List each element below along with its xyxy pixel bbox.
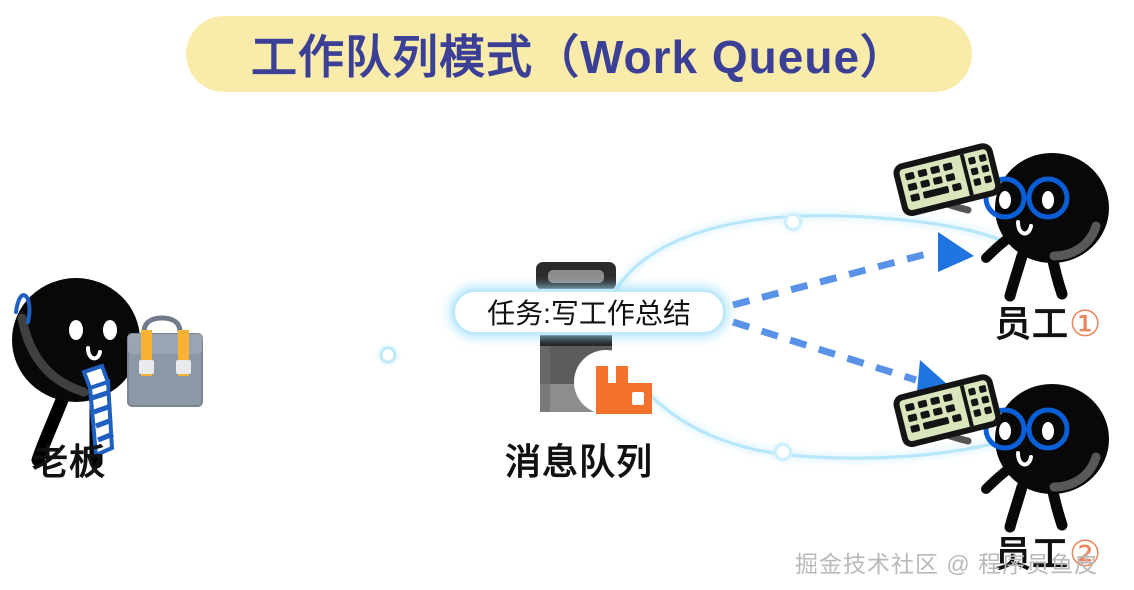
task-label-pill: 任务:写工作总结 xyxy=(452,289,726,335)
edge-queue-to-employee-2 xyxy=(640,385,1010,460)
node-caption-boss: 老板 xyxy=(32,433,106,485)
edge-task-to-employee-1 xyxy=(733,232,974,305)
led-indicator xyxy=(550,350,558,358)
led-indicator xyxy=(605,350,613,358)
task-label-text: 任务:写工作总结 xyxy=(487,292,691,332)
arrowhead-icon xyxy=(916,360,956,402)
led-indicator xyxy=(569,350,577,358)
edge-task-to-employee-2 xyxy=(733,322,956,402)
boss-eye-left xyxy=(69,320,83,340)
led-indicator xyxy=(588,350,596,358)
arrowhead-icon xyxy=(938,232,974,272)
employee-1-label: 员工 xyxy=(995,303,1069,344)
employee-character-icon xyxy=(936,153,1109,296)
boss-eye-right xyxy=(103,320,117,340)
watermark: 掘金技术社区 @ 程序员鱼皮 xyxy=(795,545,1098,579)
glasses-icon xyxy=(972,410,1067,448)
node-caption-message-queue: 消息队列 xyxy=(505,433,653,485)
diagram-canvas: 工作队列模式（Work Queue） xyxy=(0,0,1134,590)
keyboard-icon xyxy=(895,376,1000,446)
glasses-icon xyxy=(972,179,1067,217)
employee-1-badge: ① xyxy=(1069,303,1102,344)
briefcase-icon xyxy=(128,318,202,406)
edge-node-dot xyxy=(381,348,395,362)
edge-node-dot xyxy=(776,445,791,460)
rabbitmq-logo xyxy=(596,366,652,414)
node-caption-employee-1: 员工① xyxy=(995,295,1102,347)
edge-node-dot xyxy=(786,215,801,230)
keyboard-icon xyxy=(895,145,1000,215)
edge-boss-to-queue xyxy=(190,348,560,362)
page-title: 工作队列模式（Work Queue） xyxy=(186,16,972,92)
employee-character-icon xyxy=(936,384,1109,527)
server-rack-icon xyxy=(536,262,638,414)
